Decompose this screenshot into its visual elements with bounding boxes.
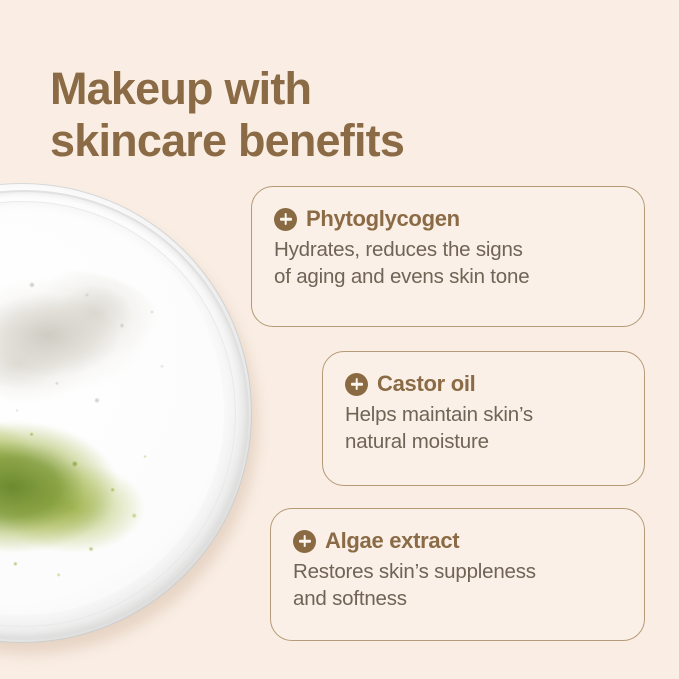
product-photo [0,183,252,643]
page-title: Makeup with skincare benefits [50,63,610,167]
benefit-title: Castor oil [377,372,475,396]
benefit-card-header: Phytoglycogen [274,207,622,231]
benefit-card-phytoglycogen: Phytoglycogen Hydrates, reduces the sign… [251,186,645,327]
plus-circle-icon [274,208,297,231]
plus-circle-icon [345,373,368,396]
benefit-card-castor-oil: Castor oil Helps maintain skin’s natural… [322,351,645,486]
benefit-title: Algae extract [325,529,459,553]
benefit-description: Hydrates, reduces the signs of aging and… [274,236,622,290]
benefit-card-header: Castor oil [345,372,622,396]
plus-circle-icon [293,530,316,553]
benefit-description: Restores skin’s suppleness and softness [293,558,622,612]
benefit-title: Phytoglycogen [306,207,460,231]
benefit-description: Helps maintain skin’s natural moisture [345,401,622,455]
product-benefits-poster: Makeup with skincare benefits Phytoglyco… [0,0,679,679]
benefit-card-header: Algae extract [293,529,622,553]
benefit-card-algae-extract: Algae extract Restores skin’s suppleness… [270,508,645,641]
